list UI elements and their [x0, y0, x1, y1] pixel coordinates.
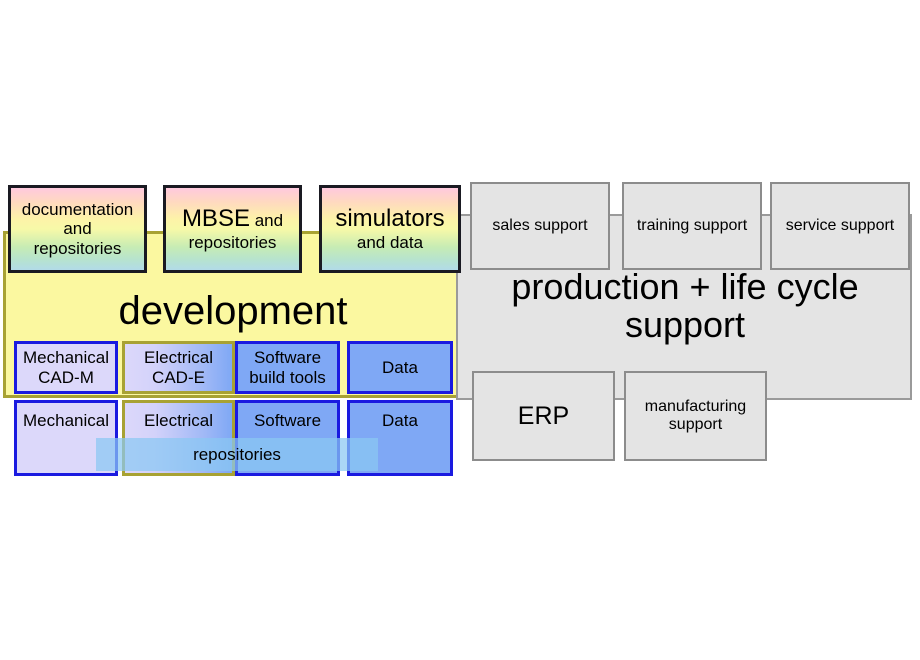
production-title: production + life cycle support: [458, 268, 912, 344]
tool-electrical-cad[interactable]: Electrical CAD-E: [122, 341, 235, 394]
mbse-title: MBSE: [182, 205, 250, 232]
development-box-documentation[interactable]: documentation and repositories: [8, 185, 147, 273]
tool-mechanical-cad-text: Mechanical CAD-M: [23, 348, 109, 387]
service-support-label: service support: [786, 217, 895, 235]
tool-data[interactable]: Data: [347, 341, 453, 394]
repository-electrical-label: Electrical: [144, 411, 213, 431]
repository-software-label: Software: [254, 411, 321, 431]
development-box-documentation-text: documentation and repositories: [22, 200, 134, 257]
tool-software-line2: build tools: [249, 368, 326, 388]
tool-mechanical-cad[interactable]: Mechanical CAD-M: [14, 341, 118, 394]
documentation-line1: documentation: [22, 200, 134, 219]
manufacturing-line2: support: [645, 416, 746, 434]
development-box-simulators[interactable]: simulators and data: [319, 185, 461, 273]
production-box-erp[interactable]: ERP: [472, 371, 615, 461]
production-box-training-support[interactable]: training support: [622, 182, 762, 270]
mbse-line1-suffix: and: [255, 211, 283, 230]
production-box-service-support[interactable]: service support: [770, 182, 910, 270]
development-box-simulators-text: simulators and data: [335, 206, 444, 252]
manufacturing-support-text: manufacturing support: [645, 398, 746, 435]
simulators-line2: and data: [335, 233, 444, 252]
tool-data-line1: Data: [382, 358, 418, 378]
tool-electrical-cad-text: Electrical CAD-E: [144, 348, 213, 387]
training-support-label: training support: [637, 217, 747, 235]
production-title-line1: production + life cycle: [458, 268, 912, 306]
development-title: development: [0, 290, 466, 332]
tool-software-build[interactable]: Software build tools: [235, 341, 340, 394]
production-title-line2: support: [458, 306, 912, 344]
tool-mechanical-line1: Mechanical: [23, 348, 109, 368]
development-box-mbse-text: MBSE and repositories: [182, 206, 283, 252]
production-box-sales-support[interactable]: sales support: [470, 182, 610, 270]
repository-data-label: Data: [382, 411, 418, 431]
mbse-line2: repositories: [182, 233, 283, 252]
mbse-line1: MBSE and: [182, 206, 283, 233]
simulators-line1: simulators: [335, 206, 444, 233]
tool-software-build-text: Software build tools: [249, 348, 326, 387]
repositories-band-label: repositories: [193, 445, 281, 465]
diagram-canvas: development production + life cycle supp…: [0, 0, 920, 660]
documentation-line2: and: [22, 219, 134, 238]
erp-label: ERP: [518, 402, 569, 431]
tool-electrical-line2: CAD-E: [144, 368, 213, 388]
tool-software-line1: Software: [249, 348, 326, 368]
repositories-band[interactable]: repositories: [96, 438, 378, 471]
manufacturing-line1: manufacturing: [645, 398, 746, 416]
tool-mechanical-line2: CAD-M: [23, 368, 109, 388]
tool-electrical-line1: Electrical: [144, 348, 213, 368]
sales-support-label: sales support: [492, 217, 587, 235]
development-box-mbse[interactable]: MBSE and repositories: [163, 185, 302, 273]
documentation-line3: repositories: [22, 239, 134, 258]
production-box-manufacturing-support[interactable]: manufacturing support: [624, 371, 767, 461]
tool-data-text: Data: [382, 358, 418, 378]
repository-mechanical-label: Mechanical: [23, 411, 109, 431]
